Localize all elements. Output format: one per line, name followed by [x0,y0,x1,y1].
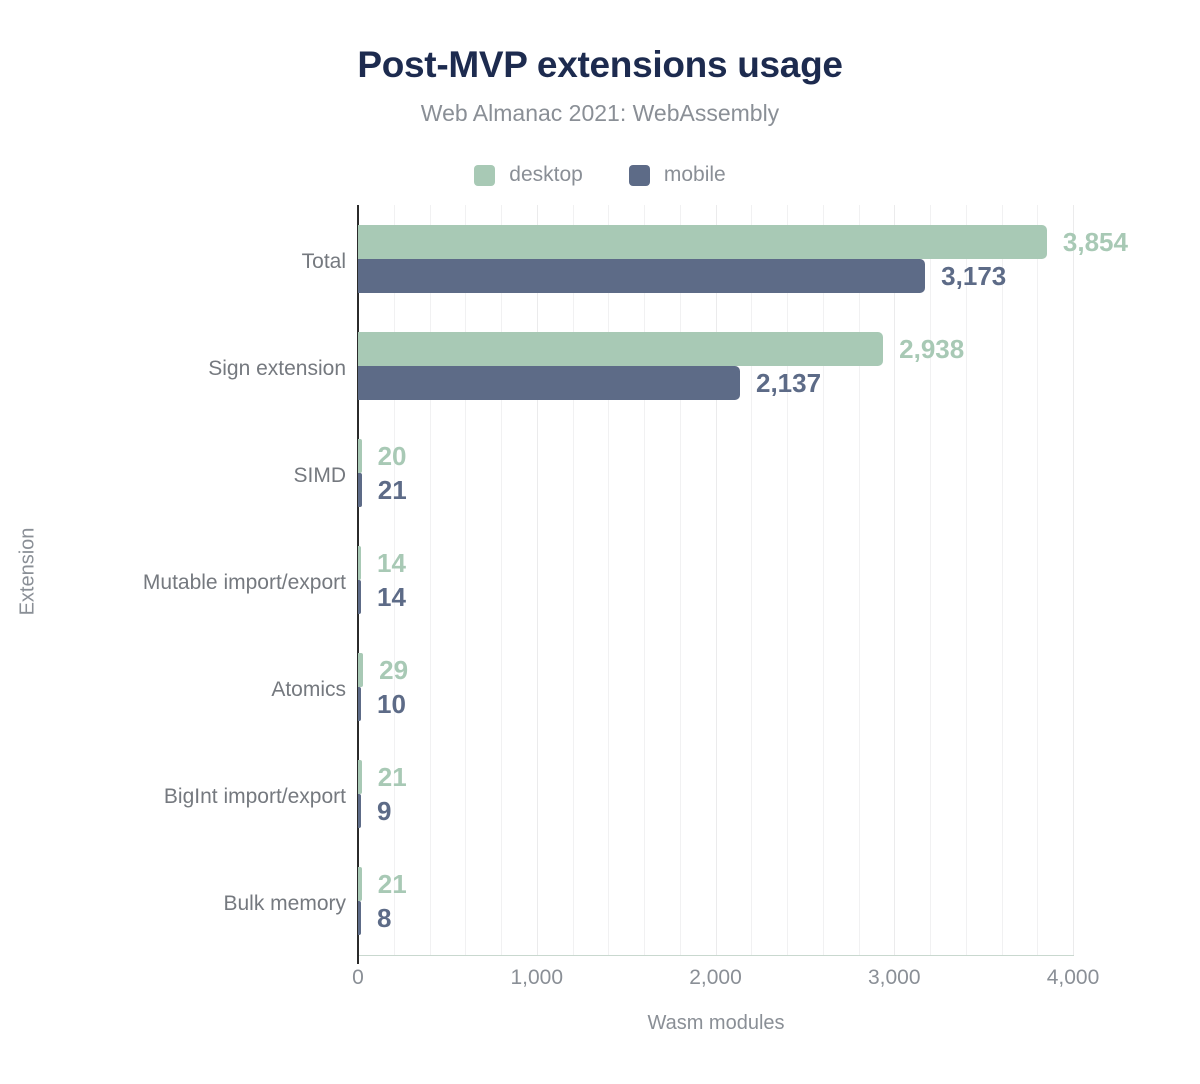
gridline-major [716,205,717,955]
legend-item-desktop[interactable]: desktop [474,163,583,187]
bar-value-label: 14 [377,580,406,614]
bar-value-label: 21 [378,473,407,507]
x-tick-label: 1,000 [510,966,563,990]
gridline-minor [573,205,574,955]
y-axis-title: Extension [17,512,40,632]
gridline-minor [430,205,431,955]
bar-value-label: 2,137 [756,366,821,400]
bar-mobile[interactable] [358,366,740,400]
square-swatch-icon [629,165,650,186]
chart-figure: Post-MVP extensions usage Web Almanac 20… [0,0,1200,1084]
gridline-minor [930,205,931,955]
bar-desktop[interactable] [358,546,361,580]
y-category-label: Mutable import/export [143,572,346,593]
y-category-label: Total [302,251,346,272]
bar-desktop[interactable] [358,439,362,473]
chart-legend: desktopmobile [0,163,1200,187]
bar-value-label: 20 [378,439,407,473]
bar-desktop[interactable] [358,225,1047,259]
legend-label: desktop [509,163,583,187]
gridline-minor [644,205,645,955]
x-axis-zero-tick [357,955,359,964]
gridline-major [537,205,538,955]
bar-value-label: 10 [377,687,406,721]
bar-value-label: 29 [379,653,408,687]
bar-value-label: 8 [377,901,391,935]
bar-value-label: 3,173 [941,259,1006,293]
bar-value-label: 14 [377,546,406,580]
legend-item-mobile[interactable]: mobile [629,163,726,187]
chart-subtitle: Web Almanac 2021: WebAssembly [0,100,1200,127]
bar-desktop[interactable] [358,867,362,901]
y-category-label: Sign extension [208,358,346,379]
bar-value-label: 21 [378,760,407,794]
page-title: Post-MVP extensions usage [0,44,1200,86]
bar-value-label: 21 [378,867,407,901]
y-category-label: BigInt import/export [164,786,346,807]
bar-mobile[interactable] [358,473,362,507]
gridline-minor [859,205,860,955]
gridline-minor [787,205,788,955]
y-category-label: SIMD [294,465,347,486]
gridline-minor [608,205,609,955]
bar-mobile[interactable] [358,901,361,935]
gridline-minor [501,205,502,955]
x-tick-label: 4,000 [1047,966,1100,990]
y-category-label: Bulk memory [223,893,346,914]
x-axis-title: Wasm modules [358,1012,1074,1035]
bar-mobile[interactable] [358,259,925,293]
x-tick-label: 0 [352,966,364,990]
x-tick-label: 3,000 [868,966,921,990]
bar-desktop[interactable] [358,760,362,794]
bar-value-label: 9 [377,794,391,828]
gridline-minor [1037,205,1038,955]
legend-label: mobile [664,163,726,187]
gridline-minor [680,205,681,955]
x-tick-label: 2,000 [689,966,742,990]
bar-mobile[interactable] [358,687,361,721]
gridline-minor [823,205,824,955]
square-swatch-icon [474,165,495,186]
bar-value-label: 3,854 [1063,225,1128,259]
bar-mobile[interactable] [358,580,361,614]
gridline-minor [751,205,752,955]
gridline-minor [966,205,967,955]
gridline-minor [1002,205,1003,955]
gridline-major [1073,205,1074,955]
bar-desktop[interactable] [358,332,883,366]
bar-mobile[interactable] [358,794,361,828]
bar-value-label: 2,938 [899,332,964,366]
bar-desktop[interactable] [358,653,363,687]
x-axis-line [358,955,1074,956]
plot-area [358,205,1073,955]
y-category-label: Atomics [271,679,346,700]
gridline-minor [465,205,466,955]
gridline-major [894,205,895,955]
